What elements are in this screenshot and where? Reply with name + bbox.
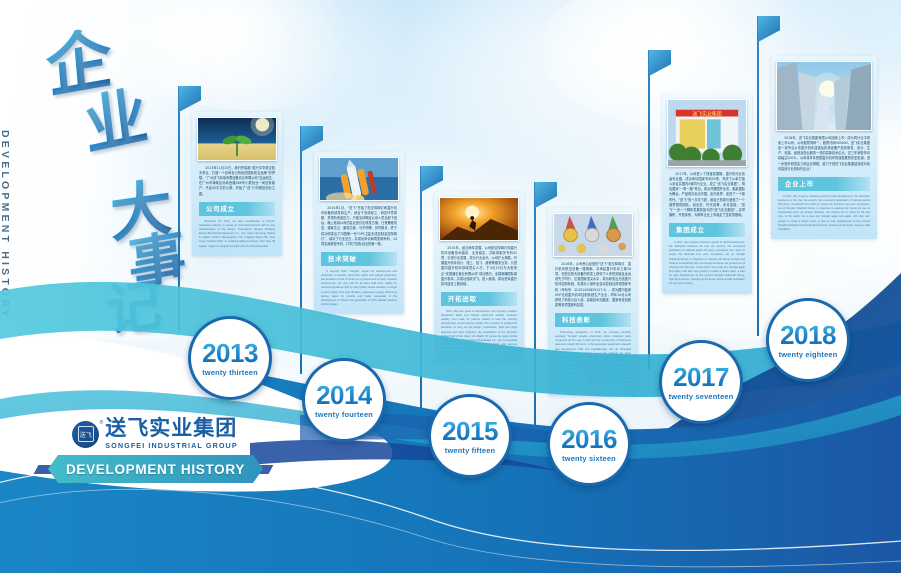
title-char: 企	[44, 24, 115, 101]
card-body: 2018年，送飞实业集团有限公司挂牌上市！成为同行业中首家上市公司，公司股票简称…	[771, 56, 877, 239]
year-number: 2015	[442, 418, 498, 444]
card-heading: 公司成立	[199, 202, 275, 216]
seal-glyph: 送飞	[78, 426, 94, 442]
year-word: twenty eighteen	[779, 350, 838, 359]
svg-text:送飞实业集团: 送飞实业集团	[692, 111, 721, 118]
card-body-cn: 2014年1月，“送飞”开始了航空障碍灯和直升机坪设备的研发和生产，综合于流体轻…	[321, 206, 397, 247]
ribbon-body: DEVELOPMENT HISTORY	[48, 455, 263, 483]
brand-name-en: SONGFEI INDUSTRIAL GROUP	[105, 441, 238, 450]
award-medals-photo	[553, 213, 633, 257]
year-badge-2014[interactable]: 2014 twenty fourteen	[302, 358, 386, 442]
registered-mark-icon: ®	[100, 420, 104, 426]
brand-name-cn: 送飞实业集团	[105, 418, 238, 439]
logo-row: 送飞 ® 送飞实业集团 SONGFEI INDUSTRIAL GROUP	[40, 418, 270, 450]
card-heading: 企业上市	[778, 177, 870, 191]
poster-canvas: 企 业 大 事 记 DEVELOPMENT HISTORY	[0, 0, 901, 573]
card-body-en: November 15, 2013, we carry revitalizati…	[199, 220, 275, 249]
title-char: 业	[81, 83, 151, 160]
year-number: 2016	[561, 426, 617, 452]
card-body: 2013年11月15日，我们怀揣着“振兴中华航空航天事业、打造一个具有自己特色的…	[192, 112, 282, 256]
card-heading: 集团成立	[669, 223, 745, 237]
year-badge-2018[interactable]: 2018 twenty eighteen	[766, 298, 850, 382]
seedling-sprout-photo	[197, 117, 277, 161]
mountain-climber-photo	[439, 197, 519, 241]
card-heading: 技术突破	[321, 252, 397, 266]
year-badge-2017[interactable]: 2017 twenty seventeen	[659, 340, 743, 424]
card-body-cn: 2013年11月15日，我们怀揣着“振兴中华航空航天事业、打造一个具有自己特色的…	[199, 166, 275, 197]
ribbon-banner: DEVELOPMENT HISTORY	[40, 455, 270, 483]
title-char: 大	[109, 176, 174, 247]
year-number: 2018	[780, 322, 836, 348]
company-seal-icon: 送飞 ®	[72, 421, 99, 448]
songfei-factory-building-photo: 送飞实业集团	[667, 99, 747, 167]
year-number: 2013	[202, 340, 258, 366]
year-word: twenty thirteen	[202, 368, 258, 377]
year-word: twenty seventeen	[669, 392, 734, 401]
card-body: 送飞实业集团 2017年，公司进入了快速发展期，直升机坪业务遍布全国，成功申请国…	[662, 94, 752, 294]
year-word: twenty sixteen	[562, 454, 616, 463]
brand-block: 送飞 ® 送飞实业集团 SONGFEI INDUSTRIAL GROUP DEV…	[40, 418, 270, 483]
year-number: 2017	[673, 364, 729, 390]
skyscrapers-upward-photo	[776, 61, 872, 131]
year-word: twenty fifteen	[445, 446, 495, 455]
ribbon-label: DEVELOPMENT HISTORY	[66, 462, 245, 477]
year-badge-2016[interactable]: 2016 twenty sixteen	[547, 402, 631, 486]
card-body-cn: 2018年，送飞实业集团有限公司挂牌上市！成为同行业中首家上市公司，公司股票简称…	[778, 136, 870, 172]
card-body-en: In 2017, the company entered a period of…	[778, 195, 870, 232]
year-number: 2014	[316, 382, 372, 408]
year-badge-2015[interactable]: 2015 twenty fifteen	[428, 394, 512, 478]
year-word: twenty fourteen	[315, 410, 373, 419]
card-body-cn: 2017年，公司进入了快速发展期，直升机坪业务遍布全国，成功申请国家专利29项，…	[669, 172, 745, 218]
year-badge-2013[interactable]: 2013 twenty thirteen	[188, 316, 272, 400]
rocket-launch-photo	[319, 157, 399, 201]
